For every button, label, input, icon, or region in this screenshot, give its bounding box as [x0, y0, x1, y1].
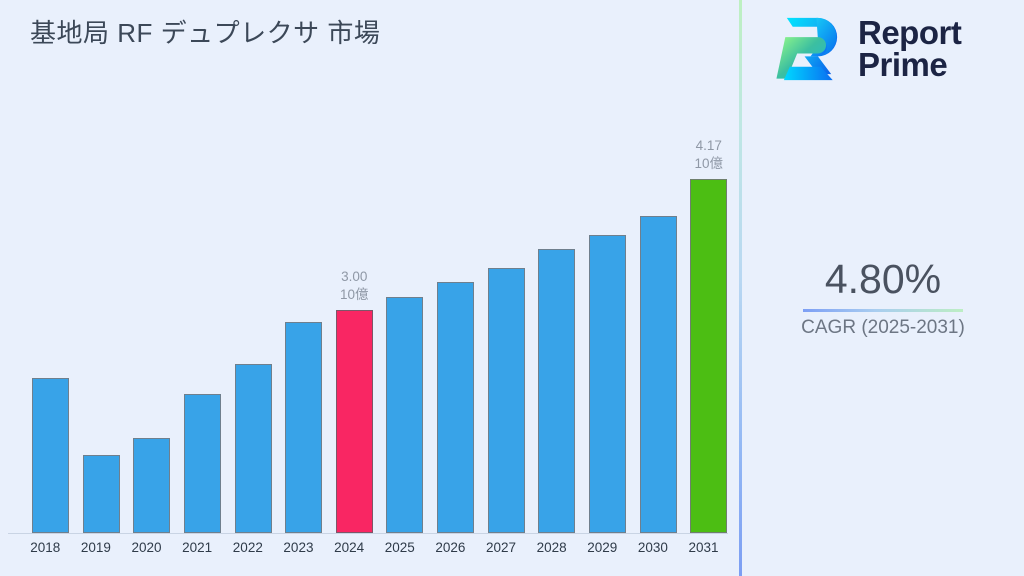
- bar-2025[interactable]: [386, 297, 423, 533]
- x-tick-2031: 2031: [678, 540, 729, 555]
- bar-slot-2026[interactable]: [425, 120, 476, 533]
- bar-slot-2018[interactable]: [20, 120, 71, 533]
- x-tick-2021: 2021: [172, 540, 223, 555]
- brand-wordmark: Report Prime: [858, 17, 961, 82]
- bar-2018[interactable]: [32, 378, 69, 533]
- x-tick-2019: 2019: [71, 540, 122, 555]
- cagr-divider-rule: [803, 309, 963, 312]
- bar-slot-2020[interactable]: [121, 120, 172, 533]
- bar-2027[interactable]: [488, 268, 525, 533]
- brand-line-1: Report: [858, 17, 961, 49]
- x-axis-line: [8, 533, 728, 534]
- bar-slot-2023[interactable]: [273, 120, 324, 533]
- report-prime-r-logo-icon: [772, 12, 846, 86]
- cagr-block: 4.80% CAGR (2025-2031): [742, 255, 1024, 339]
- bar-slot-2021[interactable]: [172, 120, 223, 533]
- x-tick-2023: 2023: [273, 540, 324, 555]
- bar-chart-plot: 3.0010億4.1710億: [8, 120, 728, 534]
- bar-2029[interactable]: [589, 235, 626, 533]
- right-panel: Report Prime 4.80% CAGR (2025-2031): [742, 0, 1024, 576]
- bar-2019[interactable]: [83, 455, 120, 533]
- x-tick-2027: 2027: [476, 540, 527, 555]
- bar-slot-2030[interactable]: [628, 120, 679, 533]
- bar-value-unit-2024: 10億: [336, 286, 373, 304]
- bar-value-number-2031: 4.17: [690, 137, 727, 155]
- x-tick-2026: 2026: [425, 540, 476, 555]
- bar-2026[interactable]: [437, 282, 474, 533]
- bar-2024[interactable]: [336, 310, 373, 533]
- x-tick-2028: 2028: [526, 540, 577, 555]
- bar-value-number-2024: 3.00: [336, 268, 373, 286]
- bar-2030[interactable]: [640, 216, 677, 533]
- x-tick-2018: 2018: [20, 540, 71, 555]
- bar-value-label-2031: 4.1710億: [690, 137, 727, 173]
- bar-series: 3.0010億4.1710億: [8, 120, 728, 533]
- x-tick-2020: 2020: [121, 540, 172, 555]
- bar-slot-2024[interactable]: 3.0010億: [324, 120, 375, 533]
- x-tick-2022: 2022: [223, 540, 274, 555]
- bar-slot-2022[interactable]: [223, 120, 274, 533]
- bar-slot-2025[interactable]: [374, 120, 425, 533]
- bar-value-unit-2031: 10億: [690, 155, 727, 173]
- bar-slot-2019[interactable]: [71, 120, 122, 533]
- x-tick-2024: 2024: [324, 540, 375, 555]
- x-axis-tick-labels: 2018201920202021202220232024202520262027…: [8, 540, 728, 564]
- cagr-caption: CAGR (2025-2031): [742, 317, 1024, 339]
- bar-2022[interactable]: [235, 364, 272, 533]
- bar-slot-2027[interactable]: [476, 120, 527, 533]
- brand-line-2: Prime: [858, 49, 961, 81]
- bar-slot-2028[interactable]: [526, 120, 577, 533]
- bar-value-label-2024: 3.0010億: [336, 268, 373, 304]
- bar-2020[interactable]: [133, 438, 170, 533]
- bar-slot-2031[interactable]: 4.1710億: [678, 120, 729, 533]
- x-tick-2029: 2029: [577, 540, 628, 555]
- x-tick-2030: 2030: [628, 540, 679, 555]
- page-title: 基地局 RF デュプレクサ 市場: [30, 13, 380, 50]
- bar-slot-2029[interactable]: [577, 120, 628, 533]
- cagr-value: 4.80%: [742, 255, 1024, 303]
- x-tick-2025: 2025: [374, 540, 425, 555]
- brand-logo: Report Prime: [772, 12, 961, 86]
- bar-2021[interactable]: [184, 394, 221, 533]
- bar-2028[interactable]: [538, 249, 575, 533]
- bar-2023[interactable]: [285, 322, 322, 533]
- chart-area: 基地局 RF デュプレクサ 市場 3.0010億4.1710億 20182019…: [0, 0, 740, 576]
- bar-2031[interactable]: [690, 179, 727, 533]
- page-root: 基地局 RF デュプレクサ 市場 3.0010億4.1710億 20182019…: [0, 0, 1024, 576]
